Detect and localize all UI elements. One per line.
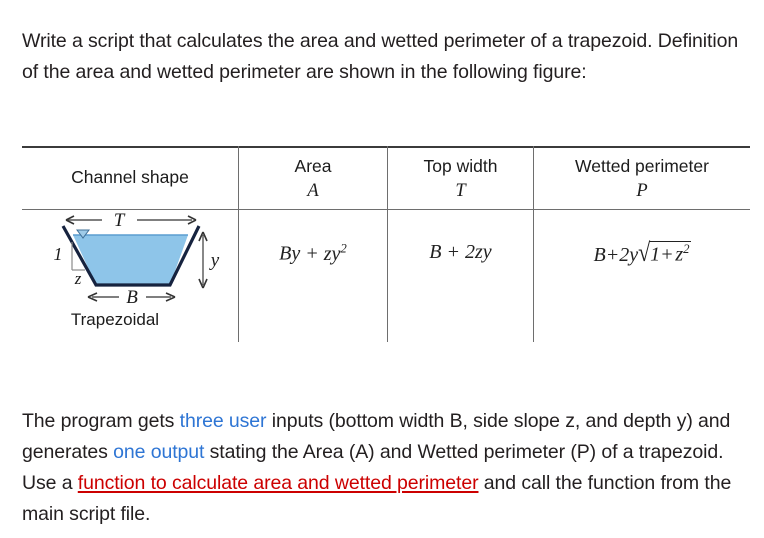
table-top-rule bbox=[22, 146, 750, 148]
cell-area-formula: By + zy2 bbox=[239, 241, 387, 266]
outro-highlight-one-output: one output bbox=[113, 441, 204, 463]
header-channel-shape: Channel shape bbox=[22, 165, 238, 190]
header-wetted-perimeter: Wetted perimeter P bbox=[534, 154, 750, 203]
header-channel-shape-label: Channel shape bbox=[71, 167, 189, 187]
outro-paragraph: The program gets three user inputs (bott… bbox=[22, 406, 754, 530]
header-area-symbol: A bbox=[239, 179, 387, 203]
header-wetted-perimeter-symbol: P bbox=[534, 179, 750, 203]
header-top-width-label: Top width bbox=[424, 156, 498, 176]
label-slope-run: z bbox=[74, 269, 82, 288]
figure-caption: Trapezoidal bbox=[22, 310, 208, 330]
trapezoid-figure: T 1 z y bbox=[22, 208, 238, 338]
label-bottom-width: B bbox=[126, 287, 138, 308]
label-slope-rise: 1 bbox=[54, 244, 63, 264]
intro-paragraph: Write a script that calculates the area … bbox=[22, 26, 750, 88]
channel-properties-table: Channel shape Area A Top width T Wetted … bbox=[22, 146, 750, 342]
cell-top-width-formula: B + 2zy bbox=[388, 241, 533, 264]
outro-link-function-requirement[interactable]: function to calculate area and wetted pe… bbox=[78, 472, 479, 494]
trapezoid-svg: T 1 z y bbox=[22, 208, 238, 312]
label-top-width: T bbox=[114, 210, 126, 231]
header-area-label: Area bbox=[295, 156, 332, 176]
header-top-width-symbol: T bbox=[388, 179, 533, 203]
header-top-width: Top width T bbox=[388, 154, 533, 203]
cell-wetted-perimeter-formula: B+2y√1+ z2 bbox=[534, 241, 750, 267]
label-depth: y bbox=[209, 250, 220, 271]
header-wetted-perimeter-label: Wetted perimeter bbox=[575, 156, 709, 176]
outro-segment-1: The program gets bbox=[22, 410, 180, 432]
header-area: Area A bbox=[239, 154, 387, 203]
outro-highlight-three-user: three user bbox=[180, 410, 267, 432]
